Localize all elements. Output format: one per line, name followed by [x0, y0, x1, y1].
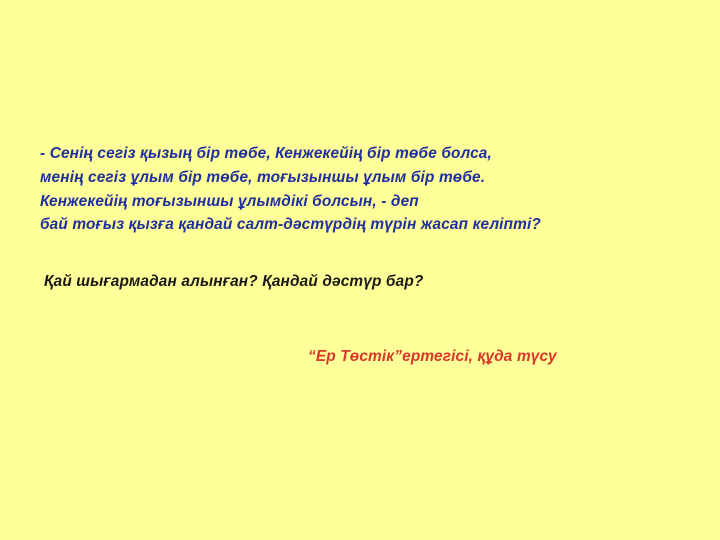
quote-line: Кенжекейің тоғызыншы ұлымдікі болсын, - …: [40, 190, 700, 214]
quote-line: менің сегіз ұлым бір төбе, тоғызыншы ұлы…: [40, 166, 700, 190]
slide-canvas: - Сенің сегіз қызың бір төбе, Кенжекейің…: [0, 0, 720, 540]
quote-text-block: - Сенің сегіз қызың бір төбе, Кенжекейің…: [40, 142, 700, 237]
quote-line: - Сенің сегіз қызың бір төбе, Кенжекейің…: [40, 142, 700, 166]
attribution-text-block: “Ер Төстік”ертегісі, құда түсу: [308, 345, 708, 368]
question-text-block: Қай шығармадан алынған? Қандай дәстүр ба…: [44, 270, 704, 293]
question-line: Қай шығармадан алынған? Қандай дәстүр ба…: [44, 270, 704, 293]
quote-line: бай тоғыз қызға қандай салт-дәстүрдің тү…: [40, 213, 700, 237]
attribution-line: “Ер Төстік”ертегісі, құда түсу: [308, 345, 708, 368]
